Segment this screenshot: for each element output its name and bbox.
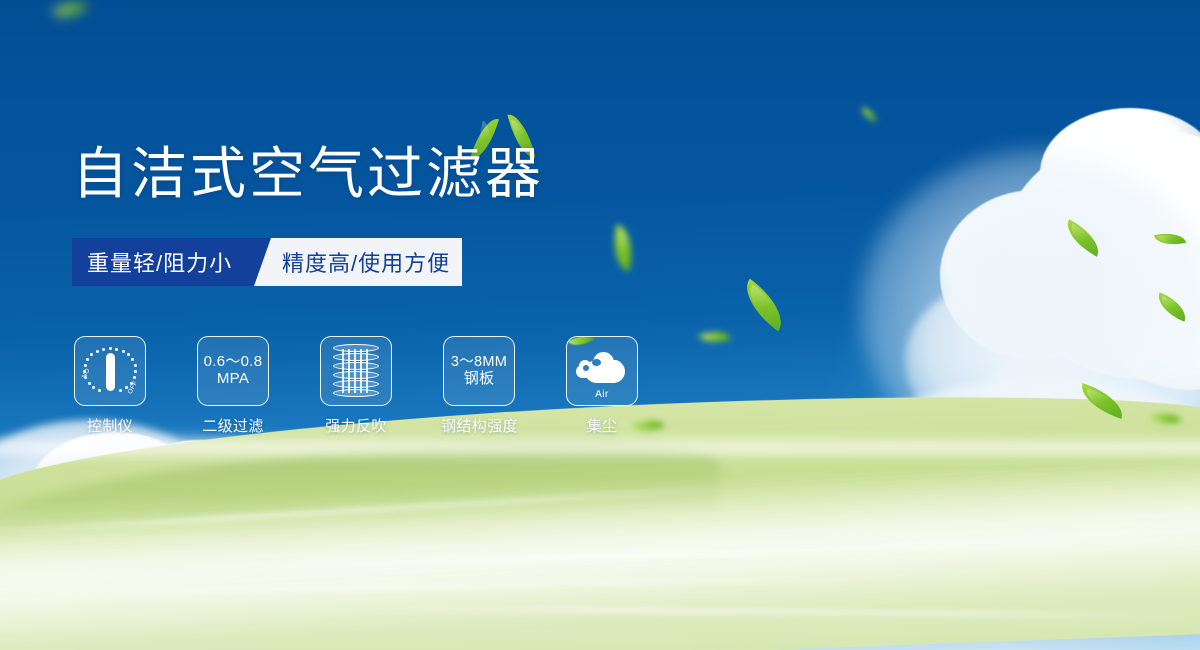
feature-item-two-stage-filter[interactable]: 0.6〜0.8 MPA 二级过滤 [195, 336, 271, 436]
steel-plate-text: 钢板 [464, 371, 495, 388]
feature-icon-box-steel-strength: 3〜8MM 钢板 [443, 336, 515, 406]
feature-icon-box-controller: NO OFF [74, 336, 146, 406]
feature-label-steel-strength: 钢结构强度 [441, 415, 517, 436]
product-hero-banner: 自洁式空气过滤器 重量轻/阻力小 精度高/使用方便 [0, 0, 1200, 650]
feature-icon-box-strong-backblow [320, 336, 392, 406]
dial-needle [106, 353, 115, 391]
dial-gauge-icon: NO OFF [81, 344, 139, 398]
feature-item-steel-strength[interactable]: 3〜8MM 钢板 钢结构强度 [441, 336, 517, 436]
dial-on-label: NO [81, 367, 92, 379]
feature-item-controller[interactable]: NO OFF 控制仪 [72, 336, 148, 436]
steel-thickness-text: 3〜8MM [451, 354, 507, 370]
feature-item-strong-backblow[interactable]: 强力反吹 [318, 336, 394, 436]
feature-item-dust-collection[interactable]: Air 集尘 [564, 336, 640, 436]
feature-icon-box-dust-collection: Air [566, 336, 638, 406]
air-cloud-icon: Air [576, 349, 628, 389]
feature-label-strong-backblow: 强力反吹 [318, 415, 394, 436]
air-label: Air [576, 389, 628, 400]
feature-label-controller: 控制仪 [72, 415, 148, 436]
filter-cartridge-icon [333, 344, 379, 398]
subtitle-bar: 重量轻/阻力小 精度高/使用方便 [72, 238, 462, 286]
subtitle-right-text: 精度高/使用方便 [282, 238, 450, 286]
pressure-range-text: 0.6〜0.8 [204, 354, 263, 371]
feature-label-two-stage-filter: 二级过滤 [195, 415, 271, 436]
feature-label-dust-collection: 集尘 [564, 415, 640, 436]
feature-list: NO OFF 控制仪 0.6〜0.8 MPA 二级过滤 [72, 336, 640, 436]
feature-icon-box-two-stage-filter: 0.6〜0.8 MPA [197, 336, 269, 406]
dial-off-label: OFF [127, 380, 140, 396]
page-title: 自洁式空气过滤器 [72, 146, 544, 202]
subtitle-left-text: 重量轻/阻力小 [87, 238, 232, 286]
pressure-unit-text: MPA [217, 371, 249, 388]
